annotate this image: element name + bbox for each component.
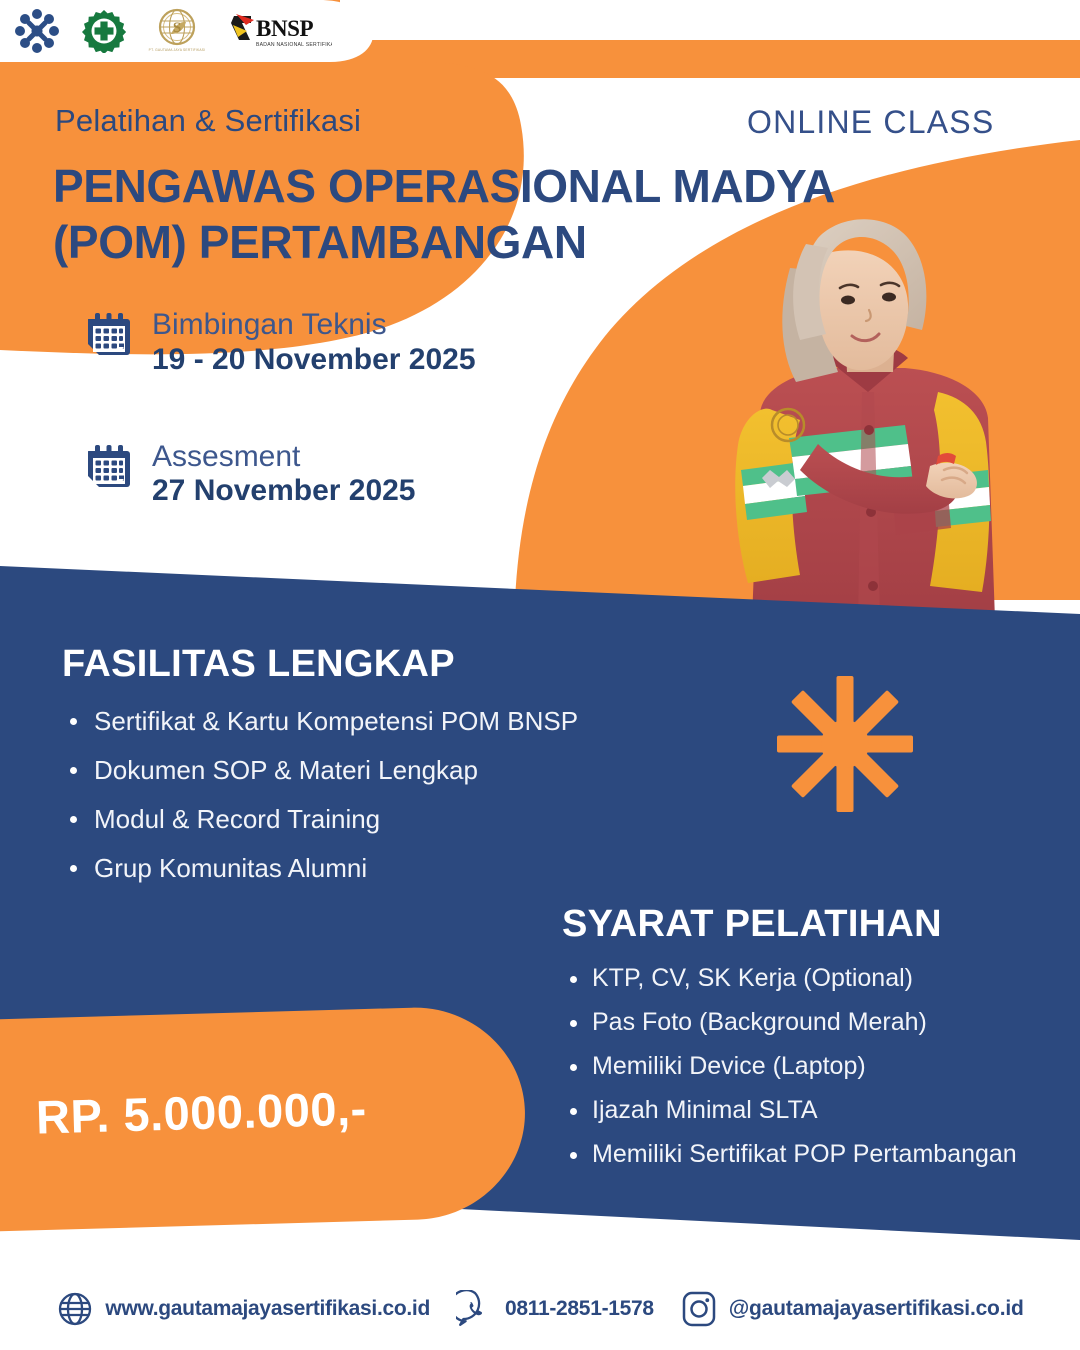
list-item: Modul & Record Training <box>62 806 578 832</box>
kicker-text: Pelatihan & Sertifikasi <box>55 103 361 139</box>
contact-website-text: www.gautamajayasertifikasi.co.id <box>105 1297 430 1321</box>
facilities-list: Sertifikat & Kartu Kompetensi POM BNSP D… <box>62 708 578 881</box>
list-item: Pas Foto (Background Merah) <box>562 1010 1017 1035</box>
requirements-section: SYARAT PELATIHAN KTP, CV, SK Kerja (Opti… <box>562 903 1017 1186</box>
instagram-icon <box>680 1290 718 1328</box>
schedule-list: Bimbingan Teknis 19 - 20 November 2025 <box>88 308 476 509</box>
page-title: PENGAWAS OPERASIONAL MADYA (POM) PERTAMB… <box>53 158 1043 270</box>
facilities-title: FASILITAS LENGKAP <box>62 643 578 686</box>
page-title-line-2: (POM) PERTAMBANGAN <box>53 214 1043 270</box>
calendar-icon <box>88 445 130 489</box>
ministry-knot-logo <box>14 8 60 54</box>
price-amount: RP. 5.000.000,- <box>35 1080 367 1144</box>
schedule-value: 27 November 2025 <box>152 473 416 509</box>
list-item: KTP, CV, SK Kerja (Optional) <box>562 966 1017 991</box>
logo-bar: S PT. GAUTAMA JAYA SERTIFIKASI BNSP BADA… <box>0 0 380 62</box>
list-item: Sertifikat & Kartu Kompetensi POM BNSP <box>62 708 578 734</box>
contact-instagram-text: @gautamajayasertifikasi.co.id <box>729 1297 1024 1321</box>
contact-instagram[interactable]: @gautamajayasertifikasi.co.id <box>680 1290 1024 1328</box>
bnsp-logo: BNSP BADAN NASIONAL SERTIFIKASI PROFESI <box>228 9 332 53</box>
gautama-jaya-globe-logo: S PT. GAUTAMA JAYA SERTIFIKASI <box>148 7 206 55</box>
bnsp-tagline: BADAN NASIONAL SERTIFIKASI PROFESI <box>256 42 332 48</box>
facilities-section: FASILITAS LENGKAP Sertifikat & Kartu Kom… <box>62 643 578 904</box>
list-item: Dokumen SOP & Materi Lengkap <box>62 757 578 783</box>
list-item: Memiliki Sertifikat POP Pertambangan <box>562 1142 1017 1167</box>
starburst-icon <box>770 670 920 818</box>
contact-whatsapp[interactable]: 0811-2851-1578 <box>456 1290 654 1328</box>
online-class-badge: ONLINE CLASS <box>747 104 994 141</box>
requirements-list: KTP, CV, SK Kerja (Optional) Pas Foto (B… <box>562 966 1017 1167</box>
contact-whatsapp-text: 0811-2851-1578 <box>505 1297 654 1321</box>
footer-contact-bar: www.gautamajayasertifikasi.co.id 0811-28… <box>0 1290 1080 1328</box>
page-title-line-1: PENGAWAS OPERASIONAL MADYA <box>53 158 1043 214</box>
poster-canvas: S PT. GAUTAMA JAYA SERTIFIKASI BNSP BADA… <box>0 0 1080 1350</box>
list-item: Memiliki Device (Laptop) <box>562 1054 1017 1079</box>
globe-logo-caption: PT. GAUTAMA JAYA SERTIFIKASI <box>149 48 206 52</box>
list-item: Grup Komunitas Alumni <box>62 855 578 881</box>
svg-text:S: S <box>173 20 181 36</box>
whatsapp-icon <box>456 1290 494 1328</box>
bnsp-wordmark: BNSP <box>256 16 314 41</box>
calendar-icon <box>88 313 130 357</box>
requirements-title: SYARAT PELATIHAN <box>562 903 1017 946</box>
schedule-label: Assesment <box>152 440 416 474</box>
schedule-item: Bimbingan Teknis 19 - 20 November 2025 <box>88 308 476 378</box>
gear-cross-logo <box>82 9 126 53</box>
schedule-value: 19 - 20 November 2025 <box>152 342 476 378</box>
list-item: Ijazah Minimal SLTA <box>562 1098 1017 1123</box>
contact-website[interactable]: www.gautamajayasertifikasi.co.id <box>56 1290 430 1328</box>
schedule-item: Assesment 27 November 2025 <box>88 440 476 510</box>
globe-icon <box>56 1290 94 1328</box>
schedule-label: Bimbingan Teknis <box>152 308 476 342</box>
